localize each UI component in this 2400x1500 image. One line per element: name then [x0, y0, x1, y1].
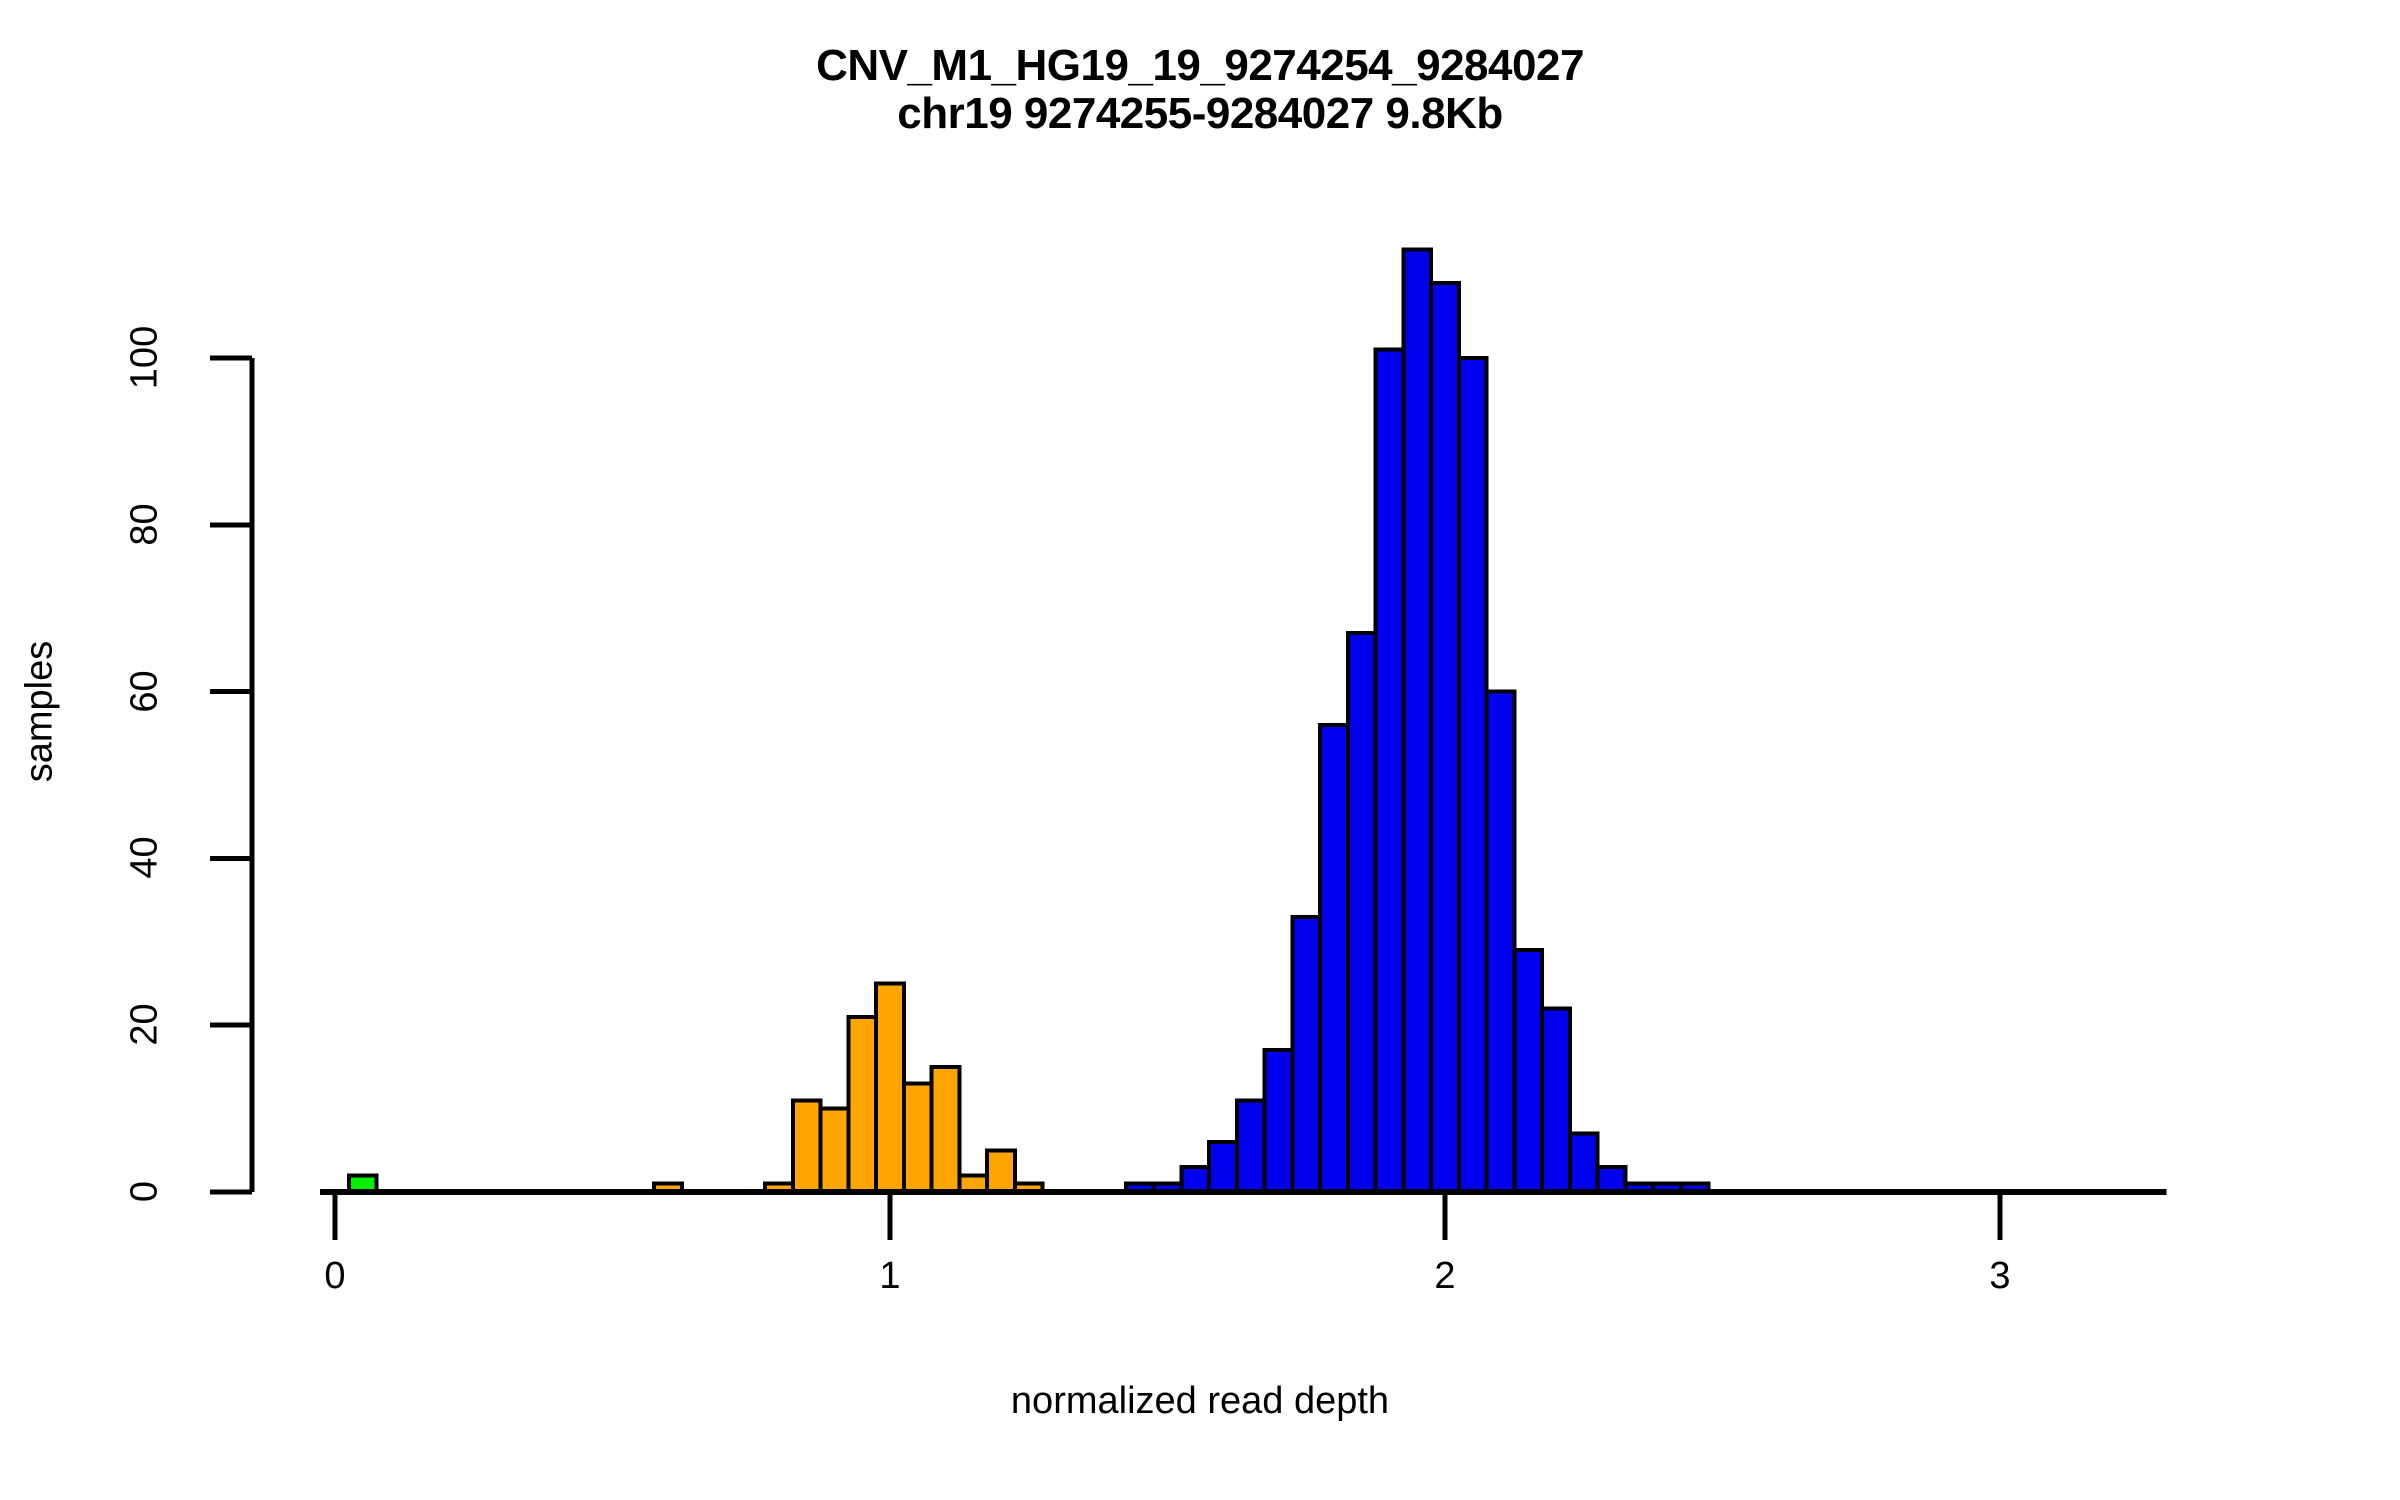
y-axis-title: samples [19, 592, 62, 832]
y-axis-title-wrap: samples [0, 0, 80, 1500]
x-tick-label: 3 [1940, 1255, 2060, 1298]
y-tick-label: 0 [124, 1132, 167, 1252]
histogram-bar [987, 1150, 1015, 1192]
histogram-plot: CNV_M1_HG19_19_9274254_9284027 chr19 927… [0, 0, 2400, 1500]
histogram-bar [1431, 283, 1459, 1192]
histogram-bar [932, 1067, 960, 1192]
x-tick-label: 0 [275, 1255, 395, 1298]
histogram-bar [1265, 1050, 1293, 1192]
y-tick-label: 60 [124, 631, 167, 751]
y-tick-label: 20 [124, 965, 167, 1085]
y-tick-label: 100 [124, 298, 167, 418]
histogram-bar [1209, 1142, 1237, 1192]
histogram-bar [793, 1100, 821, 1192]
histogram-bar [821, 1109, 849, 1192]
histogram-bar [1237, 1100, 1265, 1192]
x-tick-label: 1 [830, 1255, 950, 1298]
histogram-bar [1598, 1167, 1626, 1192]
histogram-bar [1403, 250, 1431, 1192]
histogram-bar [1514, 950, 1542, 1192]
x-tick-label: 2 [1385, 1255, 1505, 1298]
histogram-bar [1487, 692, 1515, 1192]
x-axis-title: normalized read depth [0, 1380, 2400, 1423]
histogram-bar [1320, 725, 1348, 1192]
histogram-bar [1376, 350, 1404, 1192]
histogram-bar [848, 1017, 876, 1192]
y-tick-label: 40 [124, 798, 167, 918]
histogram-bar [1292, 917, 1320, 1192]
histogram-bar [1542, 1009, 1570, 1192]
histogram-bar [876, 984, 904, 1193]
histogram-bar [1181, 1167, 1209, 1192]
bars-layer [349, 250, 1709, 1192]
histogram-bar [1570, 1134, 1598, 1192]
histogram-bar [1348, 633, 1376, 1192]
histogram-bar [1459, 358, 1487, 1192]
axes-layer [210, 358, 2167, 1240]
histogram-bar [904, 1084, 932, 1192]
y-tick-label: 80 [124, 464, 167, 584]
